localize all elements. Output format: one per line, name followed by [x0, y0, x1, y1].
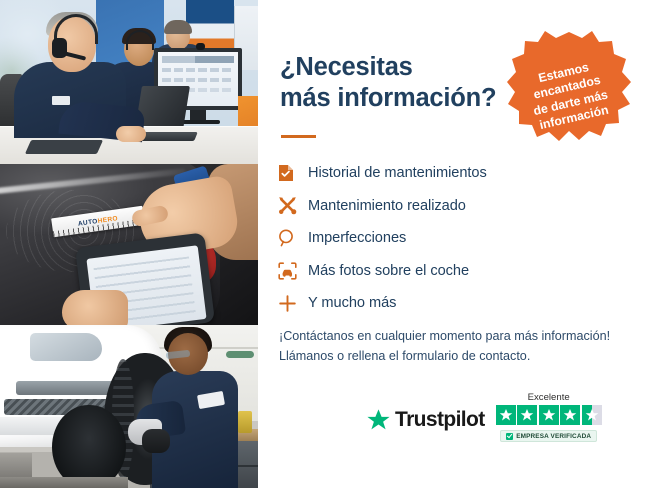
background-colleague-hair: [164, 20, 192, 34]
monitor-screen-row: [162, 78, 234, 82]
green-hose: [226, 351, 254, 358]
trustpilot-stars: [496, 405, 602, 425]
contact-copy: ¡Contáctanos en cualquier momento para m…: [279, 326, 639, 367]
trustpilot-star-icon: [366, 408, 391, 432]
mechanic-glove-dark: [142, 429, 170, 453]
verified-business-label: EMPRESA VERIFICADA: [516, 433, 591, 440]
support-badge: Estamos encantados de darte más informac…: [504, 26, 634, 156]
monitor-screen-header: [162, 56, 234, 63]
trustpilot-wordmark: Trustpilot: [395, 408, 485, 432]
feature-item-much-more: Y mucho más: [278, 287, 628, 320]
photo-collage: AUTOHERO: [0, 0, 258, 488]
feature-item-maintenance-done: Mantenimiento realizado: [278, 190, 628, 223]
feature-label: Historial de mantenimientos: [308, 165, 487, 181]
rear-wheel: [52, 405, 126, 488]
contact-line-2: Llámanos o rellena el formulario de cont…: [279, 346, 639, 366]
car-inspection-ruler-photo: AUTOHERO: [0, 164, 258, 325]
front-agent-hand: [116, 126, 146, 142]
wrench-screwdriver-icon: [278, 196, 308, 215]
feature-label: Y mucho más: [308, 295, 396, 311]
call-centre-agents-photo: [0, 0, 258, 164]
page-title-line-2: más información?: [280, 83, 520, 114]
mechanic-wheel-photo: [0, 325, 258, 488]
monitor-screen-row: [162, 68, 234, 72]
feature-item-maintenance-history: Historial de mantenimientos: [278, 157, 628, 190]
check-icon: [506, 433, 513, 440]
star-filled: [517, 405, 537, 425]
feature-label: Mantenimiento realizado: [308, 198, 466, 214]
lift-platform: [0, 477, 128, 488]
title-divider: [281, 135, 316, 138]
star-filled: [560, 405, 580, 425]
feature-item-more-photos: Más fotos sobre el coche: [278, 255, 628, 288]
more-information-banner: AUTOHERO: [0, 0, 650, 488]
trustpilot-rating-label: Excelente: [528, 392, 570, 403]
desk-tablet: [25, 140, 103, 154]
content-panel: ¿Necesitas más información? Estamos enca…: [258, 0, 650, 488]
trustpilot-logo[interactable]: Trustpilot: [366, 408, 485, 432]
second-agent-headset: [126, 30, 154, 50]
car-focus-icon: [278, 262, 308, 280]
headset-icon: [493, 26, 515, 46]
verified-business-badge: EMPRESA VERIFICADA: [500, 430, 597, 442]
webcam: [196, 43, 205, 50]
contact-line-1: ¡Contáctanos en cualquier momento para m…: [279, 326, 639, 346]
feature-list: Historial de mantenimientos M: [278, 157, 628, 320]
magnifier-icon: [278, 229, 308, 247]
trustpilot-widget[interactable]: Trustpilot Excelente: [366, 386, 634, 448]
star-half: [582, 405, 602, 425]
feature-label: Imperfecciones: [308, 230, 406, 246]
front-agent-name-tag: [52, 96, 70, 105]
feature-item-imperfections: Imperfecciones: [278, 222, 628, 255]
inspector-hand-holding-tablet: [62, 290, 128, 325]
page-title-line-1: ¿Necesitas: [280, 53, 413, 81]
car-headlight: [30, 333, 102, 361]
feature-label: Más fotos sobre el coche: [308, 263, 469, 279]
document-check-icon: [278, 164, 308, 182]
star-filled: [496, 405, 516, 425]
fluid-bottle: [238, 411, 252, 433]
trustpilot-rating[interactable]: Excelente: [496, 392, 602, 442]
plus-icon: [278, 294, 308, 313]
star-filled: [539, 405, 559, 425]
page-title: ¿Necesitas más información?: [280, 52, 520, 114]
